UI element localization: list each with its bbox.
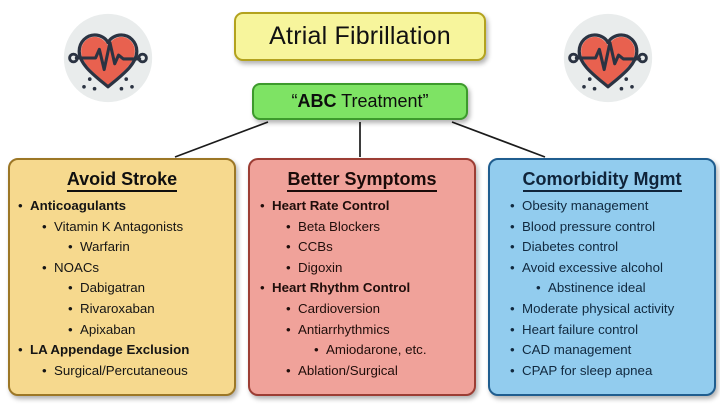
- list-item: •Dabigatran: [68, 278, 228, 299]
- list-item: •Surgical/Percutaneous: [42, 361, 228, 382]
- bullet-icon: •: [18, 196, 23, 217]
- list-item: •Moderate physical activity: [510, 299, 708, 320]
- list-item: •NOACs: [42, 258, 228, 279]
- bullet-icon: •: [536, 278, 541, 299]
- heartbeat-ecg-icon: [60, 10, 156, 106]
- bullet-icon: •: [314, 340, 319, 361]
- column-header: Comorbidity Mgmt: [496, 168, 708, 192]
- list-item: •CCBs: [286, 237, 468, 258]
- bullet-icon: •: [510, 196, 515, 217]
- column-header: Better Symptoms: [256, 168, 468, 192]
- bullet-icon: •: [286, 361, 291, 382]
- column-header: Avoid Stroke: [16, 168, 228, 192]
- bullet-icon: •: [42, 361, 47, 382]
- bullet-icon: •: [510, 361, 515, 382]
- bullet-icon: •: [68, 278, 73, 299]
- bullet-icon: •: [42, 258, 47, 279]
- bullet-icon: •: [260, 196, 265, 217]
- list-item: •Warfarin: [68, 237, 228, 258]
- abc-treatment-label: “ABC Treatment”: [291, 91, 428, 112]
- bullet-icon: •: [510, 340, 515, 361]
- bullet-icon: •: [510, 258, 515, 279]
- list-item: •Cardioversion: [286, 299, 468, 320]
- bullet-icon: •: [510, 320, 515, 341]
- list-item: •Avoid excessive alcohol: [510, 258, 708, 279]
- list-item: •CPAP for sleep apnea: [510, 361, 708, 382]
- bullet-list: •Heart Rate Control •Beta Blockers •CCBs…: [256, 196, 468, 381]
- bullet-icon: •: [68, 320, 73, 341]
- bullet-list: •Obesity management •Blood pressure cont…: [496, 196, 708, 381]
- bullet-icon: •: [68, 299, 73, 320]
- list-item: •Ablation/Surgical: [286, 361, 468, 382]
- list-item: •Antiarrhythmics: [286, 320, 468, 341]
- list-item: •LA Appendage Exclusion: [18, 340, 228, 361]
- list-item: •Digoxin: [286, 258, 468, 279]
- abc-bold: ABC: [297, 91, 336, 111]
- column-better-symptoms: Better Symptoms •Heart Rate Control •Bet…: [248, 158, 476, 396]
- bullet-icon: •: [510, 237, 515, 258]
- list-item: •Amiodarone, etc.: [314, 340, 468, 361]
- list-item: •Obesity management: [510, 196, 708, 217]
- list-item: •Apixaban: [68, 320, 228, 341]
- bullet-icon: •: [286, 299, 291, 320]
- bullet-icon: •: [510, 299, 515, 320]
- list-item: •Blood pressure control: [510, 217, 708, 238]
- list-item: •Heart failure control: [510, 320, 708, 341]
- bullet-icon: •: [510, 217, 515, 238]
- bullet-list: •Anticoagulants •Vitamin K Antagonists •…: [16, 196, 228, 381]
- page-title: Atrial Fibrillation: [234, 12, 486, 61]
- heartbeat-ecg-icon: [560, 10, 656, 106]
- diagram-canvas: Atrial Fibrillation “ABC Treatment” Avoi…: [0, 0, 720, 404]
- bullet-icon: •: [286, 258, 291, 279]
- list-item: •Anticoagulants: [18, 196, 228, 217]
- column-comorbidity-mgmt: Comorbidity Mgmt •Obesity management •Bl…: [488, 158, 716, 396]
- bullet-icon: •: [286, 237, 291, 258]
- list-item: •Vitamin K Antagonists: [42, 217, 228, 238]
- abc-suffix: Treatment”: [336, 91, 428, 111]
- list-item: •Diabetes control: [510, 237, 708, 258]
- list-item: •Rivaroxaban: [68, 299, 228, 320]
- bullet-icon: •: [68, 237, 73, 258]
- list-item: •Beta Blockers: [286, 217, 468, 238]
- page-title-text: Atrial Fibrillation: [269, 22, 451, 51]
- abc-treatment-node: “ABC Treatment”: [252, 83, 468, 120]
- list-item: •Abstinence ideal: [536, 278, 708, 299]
- list-item: •CAD management: [510, 340, 708, 361]
- bullet-icon: •: [286, 320, 291, 341]
- bullet-icon: •: [42, 217, 47, 238]
- bullet-icon: •: [260, 278, 265, 299]
- list-item: •Heart Rhythm Control: [260, 278, 468, 299]
- bullet-icon: •: [286, 217, 291, 238]
- list-item: •Heart Rate Control: [260, 196, 468, 217]
- bullet-icon: •: [18, 340, 23, 361]
- column-avoid-stroke: Avoid Stroke •Anticoagulants •Vitamin K …: [8, 158, 236, 396]
